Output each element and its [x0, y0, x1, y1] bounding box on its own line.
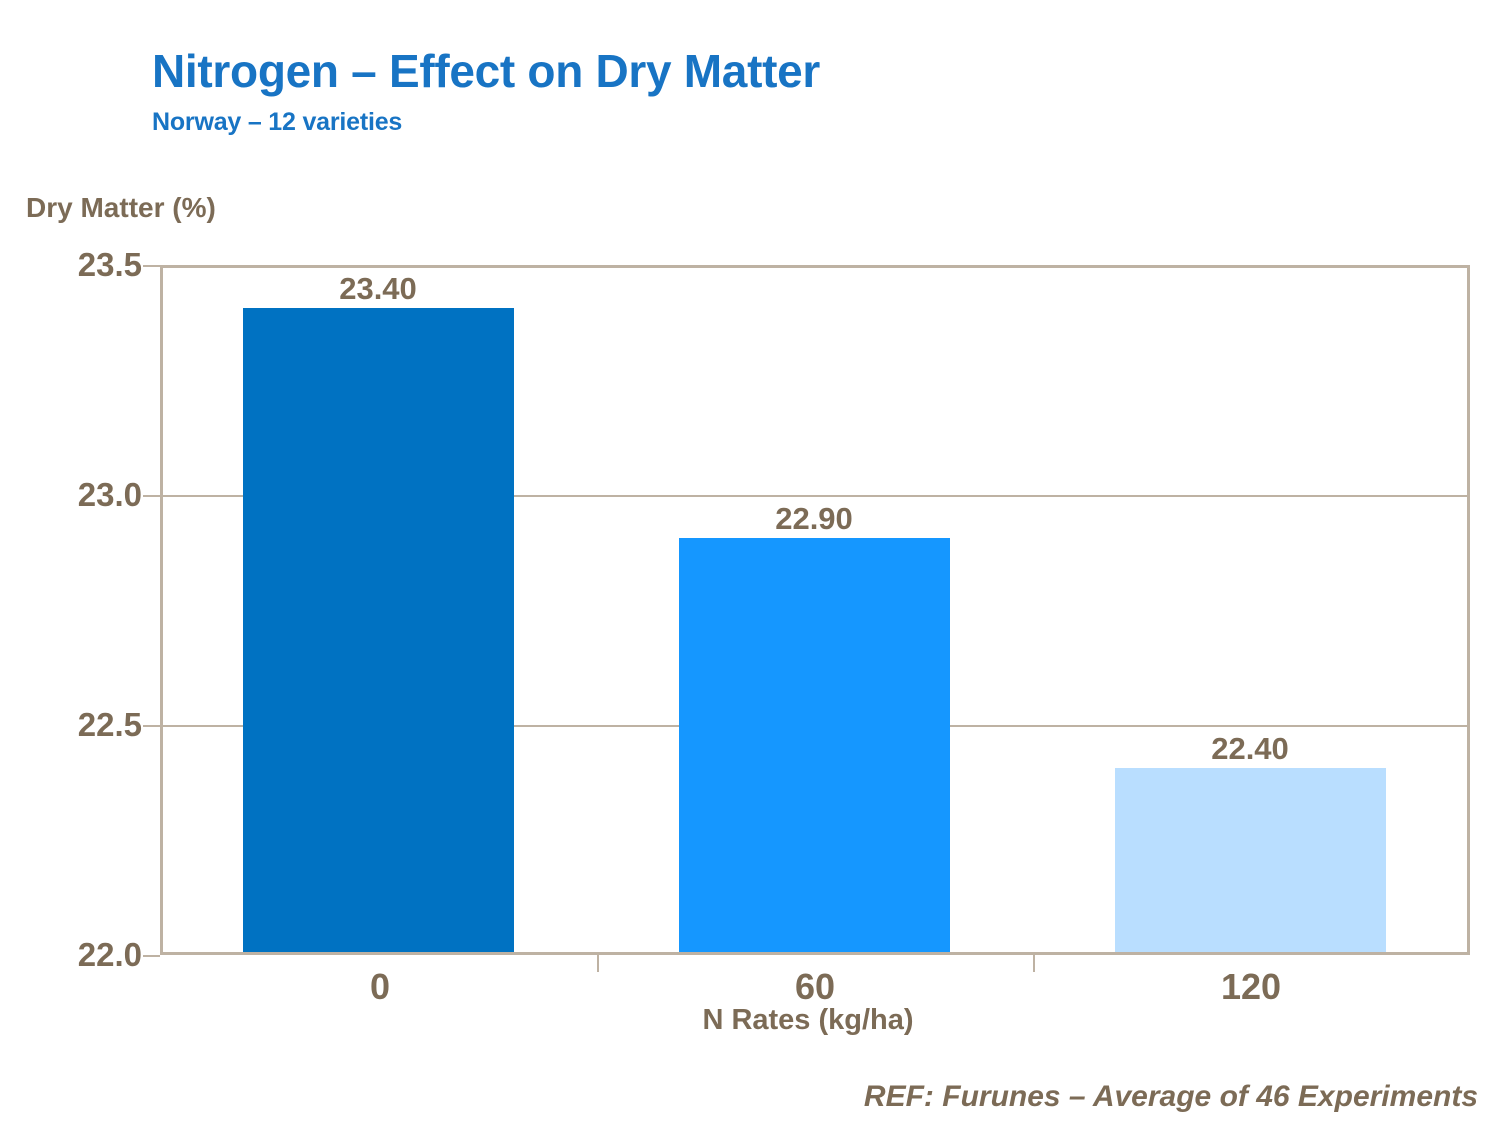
- y-tick-mark-3: [143, 955, 160, 957]
- bar-value-label-0: 23.40: [339, 271, 417, 307]
- x-tick-mark-1: [1033, 955, 1035, 972]
- y-axis-title: Dry Matter (%): [26, 192, 216, 224]
- x-tick-label-1: 60: [795, 966, 835, 1008]
- bar-n-rate-0[interactable]: [243, 308, 514, 952]
- bar-value-label-1: 22.90: [775, 501, 853, 537]
- bar-n-rate-120[interactable]: [1115, 768, 1386, 952]
- chart-subtitle: Norway – 12 varieties: [152, 108, 402, 137]
- y-tick-label-3: 22.0: [22, 936, 142, 974]
- x-tick-mark-0: [597, 955, 599, 972]
- y-tick-label-2: 22.5: [22, 706, 142, 744]
- y-tick-label-1: 23.0: [22, 476, 142, 514]
- y-tick-mark-1: [143, 495, 160, 497]
- x-tick-label-2: 120: [1221, 966, 1281, 1008]
- y-tick-label-0: 23.5: [22, 246, 142, 284]
- x-axis-title-text: N Rates (kg/ha): [702, 1004, 913, 1036]
- page-title: Nitrogen – Effect on Dry Matter: [152, 44, 820, 98]
- y-tick-mark-0: [143, 265, 160, 267]
- x-tick-label-0: 0: [370, 966, 390, 1008]
- chart-plot-area: [160, 265, 1470, 955]
- bar-n-rate-60[interactable]: [679, 538, 950, 952]
- x-axis-title: N Rates (kg/ha): [0, 1004, 1500, 1037]
- y-tick-mark-2: [143, 725, 160, 727]
- bar-value-label-2: 22.40: [1211, 731, 1289, 767]
- reference-note: REF: Furunes – Average of 46 Experiments: [864, 1080, 1478, 1114]
